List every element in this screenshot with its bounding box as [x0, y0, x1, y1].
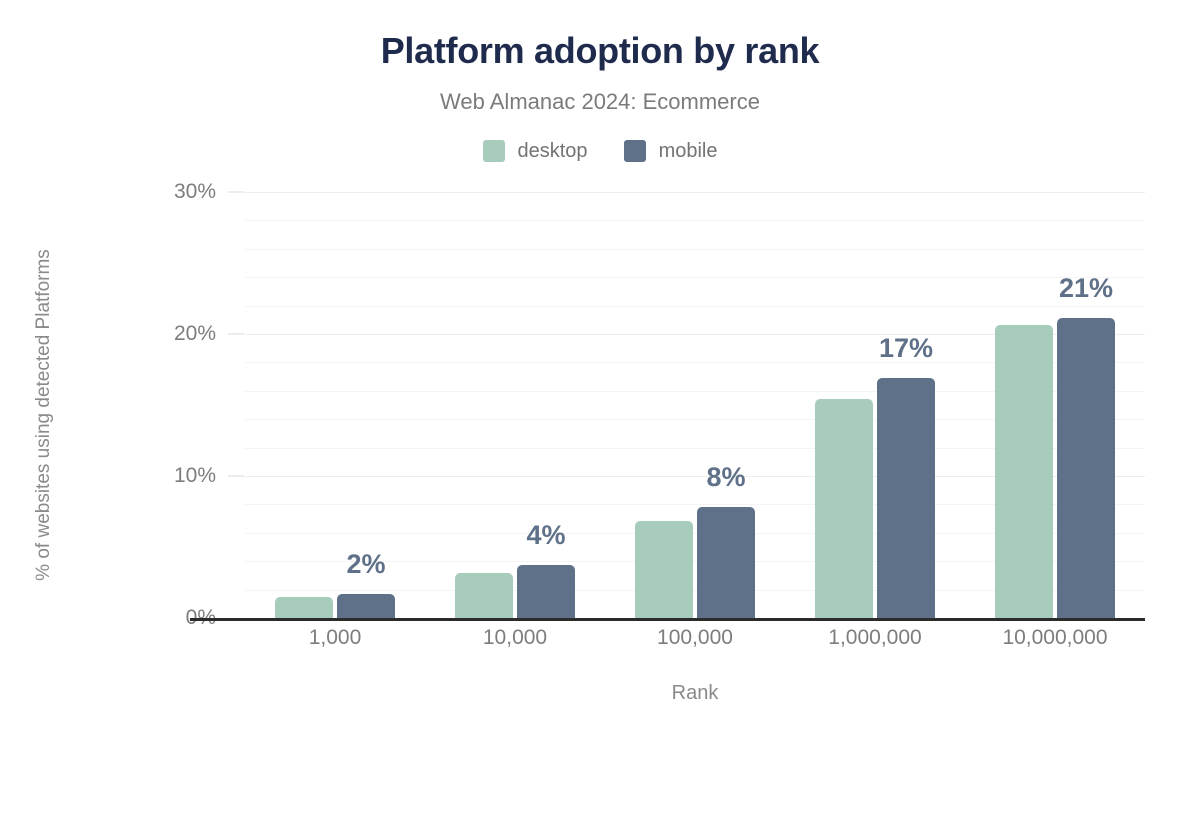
x-axis-tick-label: 100,000: [605, 626, 785, 650]
x-axis-tick-label: 10,000,000: [965, 626, 1145, 650]
legend-swatch-desktop: [483, 140, 505, 162]
bar-desktop[interactable]: [815, 399, 873, 618]
bar-desktop[interactable]: [275, 597, 333, 618]
legend-item-desktop[interactable]: desktop: [483, 140, 588, 162]
bar-value-label: 21%: [1059, 273, 1113, 304]
legend-item-mobile[interactable]: mobile: [624, 140, 718, 162]
bar-group: 2%: [245, 192, 425, 618]
x-axis-tick-label: 10,000: [425, 626, 605, 650]
x-axis-tick-label: 1,000: [245, 626, 425, 650]
x-axis-tick-label: 1,000,000: [785, 626, 965, 650]
bar-desktop[interactable]: [455, 573, 513, 618]
bar-mobile[interactable]: 8%: [697, 507, 755, 618]
legend-swatch-mobile: [624, 140, 646, 162]
legend-label-desktop: desktop: [518, 141, 588, 161]
y-axis-tick-label: 10%: [174, 464, 216, 488]
y-axis-tick-label: 20%: [174, 322, 216, 346]
bar-mobile[interactable]: 21%: [1057, 318, 1115, 618]
y-axis-tick-label: 0%: [186, 606, 216, 630]
bar-group: 8%: [605, 192, 785, 618]
bar-value-label: 8%: [706, 462, 745, 493]
y-axis-tick-mark: [228, 334, 244, 335]
chart-container: Platform adoption by rank Web Almanac 20…: [0, 0, 1200, 742]
bar-mobile[interactable]: 17%: [877, 378, 935, 618]
bar-value-label: 4%: [526, 520, 565, 551]
y-axis-tick-mark: [228, 476, 244, 477]
bar-mobile[interactable]: 2%: [337, 594, 395, 618]
chart-subtitle: Web Almanac 2024: Ecommerce: [0, 89, 1200, 115]
page-title: Platform adoption by rank: [0, 30, 1200, 72]
x-axis-ticks: 1,00010,000100,0001,000,00010,000,000: [245, 626, 1145, 650]
bar-group: 17%: [785, 192, 965, 618]
y-axis-tick-label: 30%: [174, 180, 216, 204]
bar-desktop[interactable]: [995, 325, 1053, 618]
bar-group: 21%: [965, 192, 1145, 618]
y-axis-ticks: 0%10%20%30%: [0, 192, 230, 618]
y-axis-tick-mark: [228, 192, 244, 193]
bar-group: 4%: [425, 192, 605, 618]
bar-desktop[interactable]: [635, 521, 693, 618]
chart-legend: desktop mobile: [0, 140, 1200, 162]
bar-mobile[interactable]: 4%: [517, 565, 575, 618]
legend-label-mobile: mobile: [659, 141, 718, 161]
bar-groups: 2%4%8%17%21%: [245, 192, 1145, 618]
x-axis-title: Rank: [245, 682, 1145, 705]
x-axis-baseline: [190, 618, 1145, 621]
bar-value-label: 2%: [346, 549, 385, 580]
bar-value-label: 17%: [879, 333, 933, 364]
